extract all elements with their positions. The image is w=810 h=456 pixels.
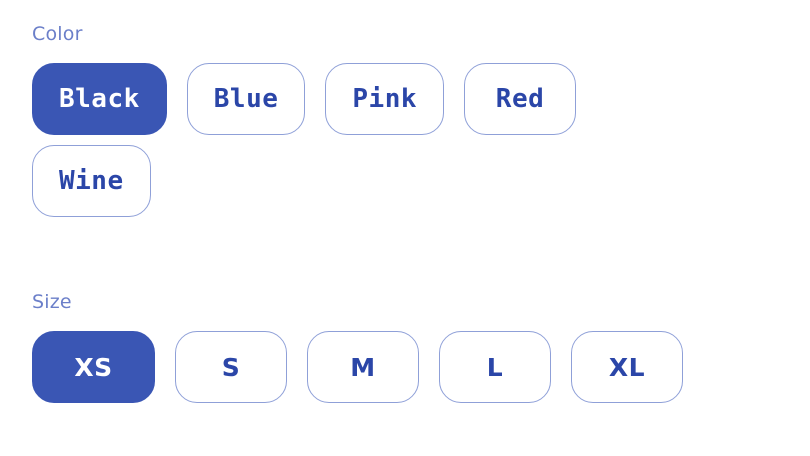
color-chip-wine[interactable]: Wine: [32, 145, 151, 217]
color-chip-pink[interactable]: Pink: [325, 63, 444, 135]
color-chip-rows: Black Blue Pink Red Wine: [32, 63, 576, 217]
size-chip-xl[interactable]: XL: [571, 331, 683, 403]
color-chip-red[interactable]: Red: [464, 63, 576, 135]
color-option-group: Color Black Blue Pink Red Wine: [32, 22, 576, 217]
size-chip-xs[interactable]: XS: [32, 331, 155, 403]
size-group-label: Size: [32, 290, 683, 314]
color-group-label: Color: [32, 22, 576, 46]
size-chip-s[interactable]: S: [175, 331, 287, 403]
size-chip-m[interactable]: M: [307, 331, 419, 403]
product-options-panel: Color Black Blue Pink Red Wine Size XS S…: [0, 0, 810, 456]
color-chip-black[interactable]: Black: [32, 63, 167, 135]
size-chip-l[interactable]: L: [439, 331, 551, 403]
color-chip-blue[interactable]: Blue: [187, 63, 306, 135]
color-chip-row: Black Blue Pink Red: [32, 63, 576, 135]
size-chip-row: XS S M L XL: [32, 331, 683, 403]
size-chip-rows: XS S M L XL: [32, 331, 683, 403]
color-chip-row: Wine: [32, 145, 576, 217]
size-option-group: Size XS S M L XL: [32, 290, 683, 403]
